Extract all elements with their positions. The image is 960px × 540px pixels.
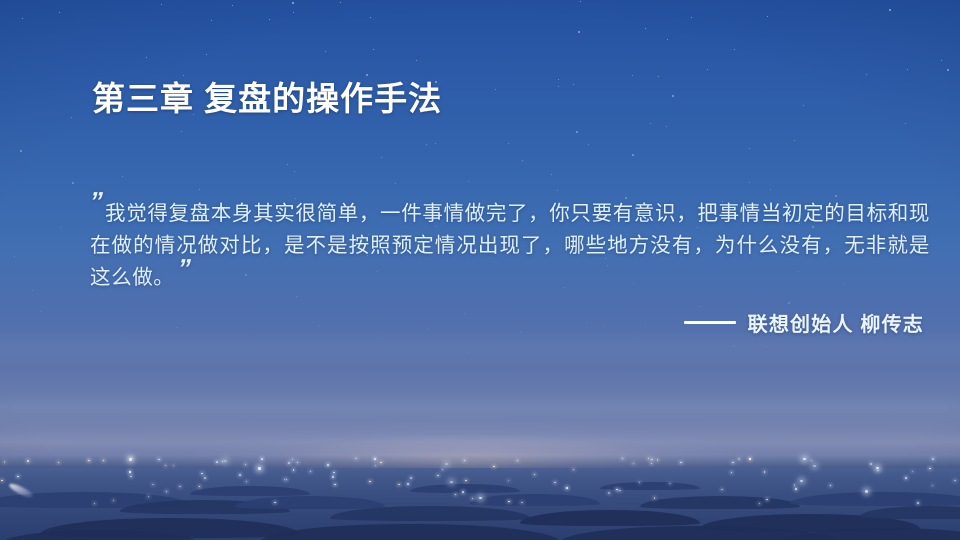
attribution-source: 联想创始人 柳传志 xyxy=(748,308,924,337)
quote-line-1: 我觉得复盘本身其实很简单，一件事情做完了，你只要有意识，把事情当初定的目标 xyxy=(105,202,888,225)
island-silhouettes xyxy=(0,466,960,540)
attribution: 联想创始人 柳传志 xyxy=(684,308,924,337)
far-shoreline xyxy=(0,455,960,481)
quote-text-body: ”我觉得复盘本身其实很简单，一件事情做完了，你只要有意识，把事情当初定的目标和现… xyxy=(90,198,930,294)
cloud-streak-middle xyxy=(0,392,960,422)
quote-block: ”我觉得复盘本身其实很简单，一件事情做完了，你只要有意识，把事情当初定的目标和现… xyxy=(90,198,930,294)
page-title: 第三章 复盘的操作手法 xyxy=(92,72,442,120)
light-streak xyxy=(8,481,34,499)
attribution-dash-icon xyxy=(684,321,736,324)
cloud-streak-lower xyxy=(0,430,960,452)
distant-city-lights xyxy=(0,440,960,540)
slide-canvas: 第三章 复盘的操作手法 ”我觉得复盘本身其实很简单，一件事情做完了，你只要有意识… xyxy=(0,0,960,540)
water-surface xyxy=(0,468,960,540)
